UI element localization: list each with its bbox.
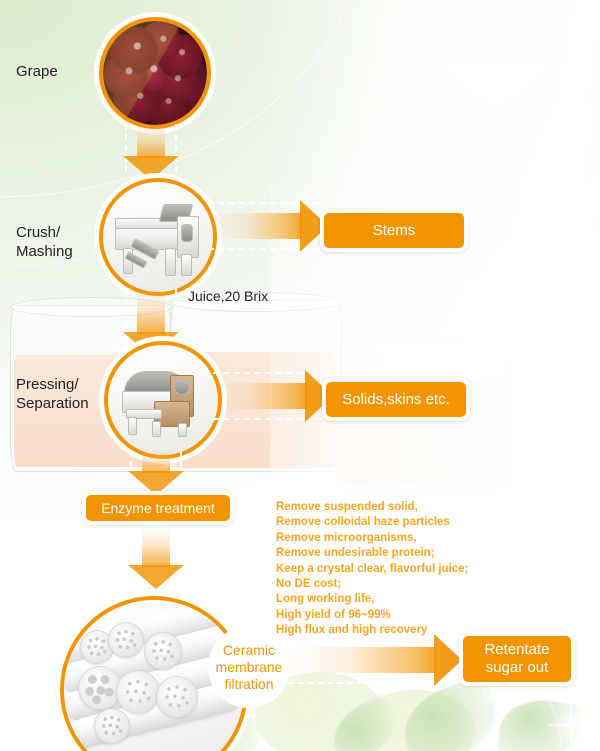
stage-label-pressing: Pressing/ Separation (16, 375, 89, 413)
process-flow-diagram: Grape Crush/ Mashing Stems Ju (0, 0, 600, 751)
background-chevron-icon (0, 520, 38, 624)
benefit-item: Remove microorganisms, (276, 531, 468, 546)
background-chevron-icon (438, 60, 554, 114)
stage-label-crush: Crush/ Mashing (16, 223, 73, 261)
benefit-item: Remove colloidal haze particles (276, 515, 468, 530)
background-chevron-icon (438, 318, 554, 372)
stage-node-pressing[interactable] (104, 341, 222, 459)
background-sparkle-icon (548, 702, 594, 748)
benefit-item: Remove undesirable protein; (276, 546, 468, 561)
stage-label-ceramic-membrane: Ceramic membrane filtration (208, 626, 290, 708)
output-box-stems[interactable]: Stems (320, 209, 468, 252)
grape-photo-icon (103, 21, 207, 125)
stage-node-crush[interactable] (99, 178, 217, 296)
benefit-item: Keep a crystal clear, flavorful juice; (276, 562, 468, 577)
flow-arrow-pressing-to-solids (213, 370, 333, 422)
flow-arrow-grape-to-crush (123, 124, 179, 180)
flow-arrow-membrane-to-retentate (288, 634, 462, 686)
flow-note-juice-brix: Juice,20 Brix (188, 288, 268, 304)
benefit-item: No DE cost; (276, 577, 468, 592)
benefit-item: Long working life, (276, 592, 468, 607)
crusher-machine-photo-icon (103, 182, 213, 292)
flow-arrow-crush-to-stems (208, 200, 328, 252)
press-machine-photo-icon (108, 345, 218, 455)
process-box-enzyme-treatment[interactable]: Enzyme treatment (82, 491, 234, 525)
flow-arrow-pressing-to-enzyme (128, 451, 184, 495)
benefit-item: High yield of 96~99% (276, 608, 468, 623)
stage-node-grape[interactable] (99, 17, 211, 129)
output-box-solids[interactable]: Solids,skins etc. (322, 378, 470, 421)
benefits-list: Remove suspended solid, Remove colloidal… (276, 500, 468, 639)
benefit-item: Remove suspended solid, (276, 500, 468, 515)
stage-label-grape: Grape (16, 62, 58, 81)
output-box-retentate[interactable]: Retentate sugar out (459, 632, 575, 686)
flow-arrow-enzyme-to-membrane (128, 527, 184, 589)
